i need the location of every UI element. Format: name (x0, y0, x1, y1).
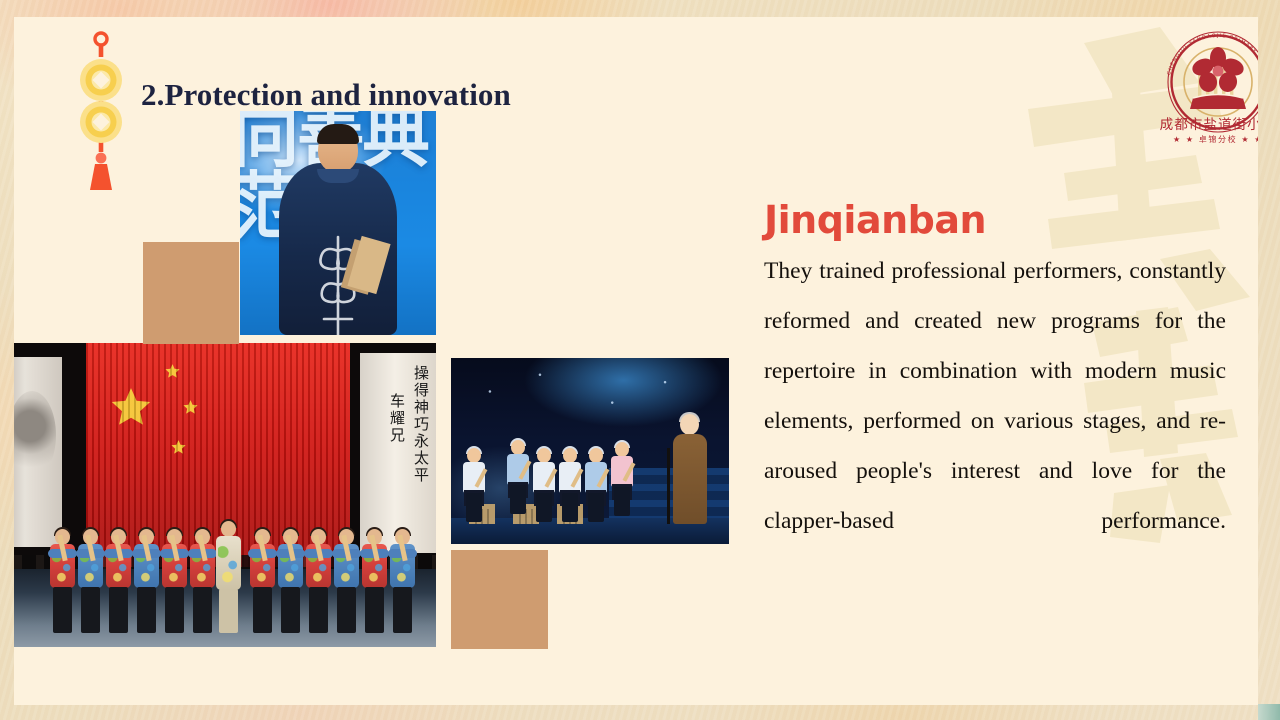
scroll-calligraphy-line-2: 车耀兄 (387, 393, 406, 444)
flag-troupe-photo: 操得神巧永太平 车耀兄 (14, 343, 436, 647)
svg-text:★ ★ 卓锦分校 ★ ★: ★ ★ 卓锦分校 ★ ★ (1173, 134, 1258, 144)
school-logo: CHENGDU YANDAOJIE PRIMARY SCHOOL 成都市盐道街小… (1153, 24, 1258, 149)
flag-star-3 (170, 439, 187, 456)
chinese-coin-tassel-icon (78, 30, 124, 192)
slide-canvas: 2.Protection and innovation (0, 0, 1280, 720)
flag-star-large (108, 385, 154, 431)
image-placeholder-1 (143, 242, 239, 344)
performer-hair (317, 124, 359, 144)
teal-corner-accent (1258, 704, 1280, 720)
troupe-performers (14, 517, 426, 633)
content-heading: Jinqianban (764, 200, 1225, 240)
slide-panel: 2.Protection and innovation (14, 17, 1258, 705)
image-placeholder-2 (451, 550, 548, 649)
flag-star-1 (164, 363, 181, 380)
content-paragraph: They trained professional performers, co… (764, 246, 1226, 596)
page-title: 2.Protection and innovation (141, 77, 511, 113)
elder-performer (673, 414, 707, 524)
flag-star-2 (182, 399, 199, 416)
walking-cane (667, 448, 670, 524)
award-performer-photo (240, 111, 436, 335)
svg-text:成都市盐道街小学: 成都市盐道街小学 (1160, 116, 1258, 133)
children-performance-photo (451, 358, 729, 544)
scroll-calligraphy-line-1: 操得神巧永太平 (411, 365, 430, 484)
text-column: Jinqianban They trained professional per… (749, 200, 1225, 596)
